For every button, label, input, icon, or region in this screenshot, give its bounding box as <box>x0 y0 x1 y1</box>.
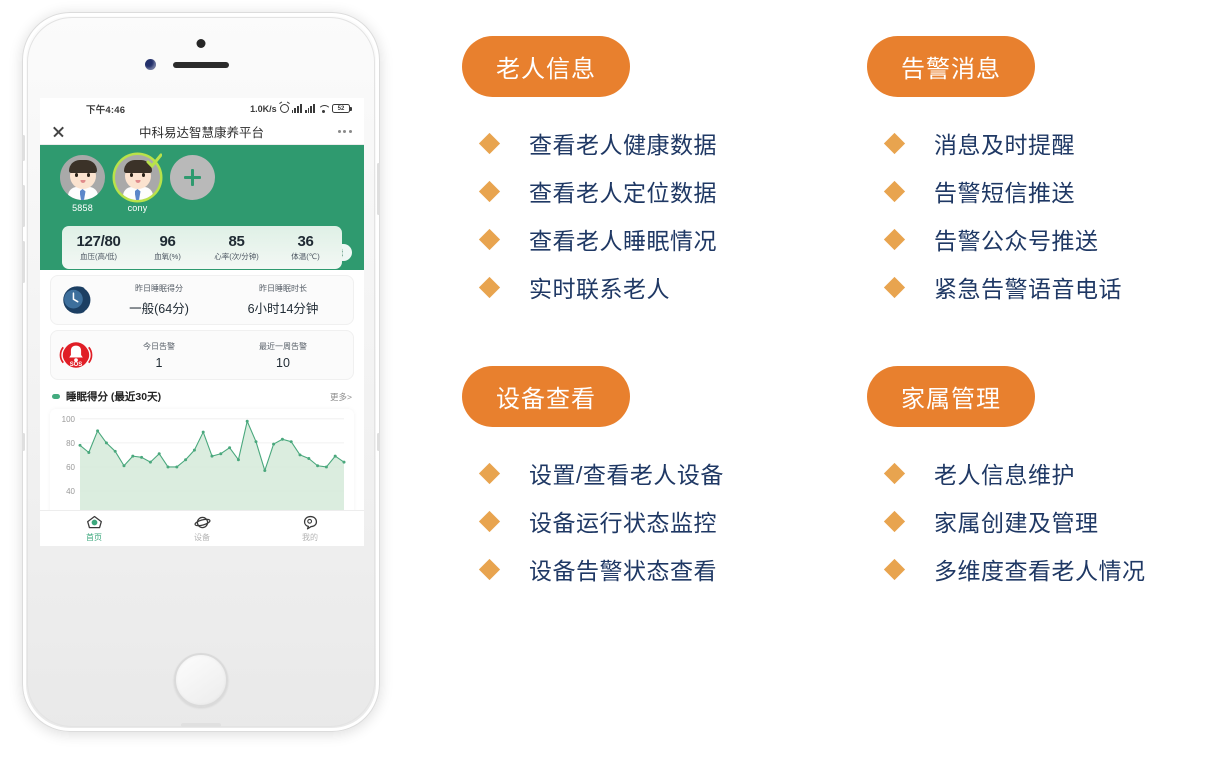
diamond-bullet-icon <box>479 276 500 297</box>
diamond-bullet-icon <box>884 558 905 579</box>
tab-device[interactable]: 设备 <box>148 511 256 546</box>
home-icon <box>86 514 103 531</box>
battery-icon: 52 <box>332 104 350 114</box>
diamond-bullet-icon <box>884 180 905 201</box>
chart-legend-dot <box>52 394 60 399</box>
phone-antenna-line-right <box>377 433 380 451</box>
network-speed-label: 1.0K/s <box>250 104 277 114</box>
phone-mute-switch[interactable] <box>22 135 25 161</box>
phone-bottom-slot <box>181 723 221 727</box>
diamond-bullet-icon <box>479 558 500 579</box>
feature-pill[interactable]: 老人信息 <box>462 36 630 97</box>
phone-volume-up-button[interactable] <box>22 185 25 227</box>
diamond-bullet-icon <box>479 132 500 153</box>
profile-avatar-list: 5858 cony <box>52 155 352 213</box>
diamond-bullet-icon <box>884 276 905 297</box>
feature-label: 查看老人健康数据 <box>529 126 717 160</box>
phone-volume-down-button[interactable] <box>22 241 25 283</box>
sleep-duration-value: 6小时14分钟 <box>221 298 345 317</box>
phone-power-button[interactable] <box>377 163 380 215</box>
list-item[interactable]: 紧急告警语音电话 <box>867 263 1215 311</box>
signal-icon-1 <box>292 104 302 113</box>
add-profile-button[interactable] <box>170 155 215 200</box>
feature-label: 设置/查看老人设备 <box>529 456 724 490</box>
feature-label: 查看老人定位数据 <box>529 174 717 208</box>
list-item[interactable]: 查看老人定位数据 <box>462 167 852 215</box>
vital-heart-rate: 85 心率(次/分钟) <box>202 233 271 262</box>
more-icon[interactable] <box>338 130 352 133</box>
feature-label: 多维度查看老人情况 <box>934 552 1146 586</box>
vital-value: 96 <box>133 233 202 250</box>
tab-label: 我的 <box>302 532 318 543</box>
device-icon <box>194 514 211 531</box>
status-bar: 下午4:46 1.0K/s 52 <box>40 98 364 119</box>
moon-clock-icon <box>59 283 93 317</box>
alarm-week-value: 10 <box>221 356 345 370</box>
vital-label: 心率(次/分钟) <box>202 251 271 262</box>
feature-group-alarm-message: 告警消息 消息及时提醒 告警短信推送 告警公众号推送 紧急告警语音电话 <box>867 36 1215 311</box>
vital-value: 36 <box>271 233 340 250</box>
list-item[interactable]: 告警短信推送 <box>867 167 1215 215</box>
alarm-week-col: 最近一周告警 10 <box>221 341 345 370</box>
list-item[interactable]: 消息及时提醒 <box>867 119 1215 167</box>
feature-pill[interactable]: 家属管理 <box>867 366 1035 427</box>
feature-pill[interactable]: 设备查看 <box>462 366 630 427</box>
close-icon[interactable] <box>52 125 65 138</box>
vital-label: 体温(℃) <box>271 251 340 262</box>
chart-title: 睡眠得分 (最近30天) <box>66 389 161 404</box>
tab-profile[interactable]: 我的 <box>256 511 364 546</box>
status-time: 下午4:46 <box>86 102 125 116</box>
list-item[interactable]: 多维度查看老人情况 <box>867 545 1215 593</box>
feature-group-elder-info: 老人信息 查看老人健康数据 查看老人定位数据 查看老人睡眠情况 实时联系老人 <box>462 36 852 311</box>
sleep-score-chart[interactable]: 10080604020 <box>50 409 354 519</box>
vital-label: 血压(高/低) <box>64 251 133 262</box>
sleep-score-value: 一般(64分) <box>97 298 221 317</box>
plus-icon <box>184 169 201 186</box>
app-navbar: 中科易达智慧康养平台 <box>40 119 364 145</box>
features-panel: 老人信息 查看老人健康数据 查看老人定位数据 查看老人睡眠情况 实时联系老人 <box>462 0 1215 775</box>
sleep-card-columns: 昨日睡眠得分 一般(64分) 昨日睡眠时长 6小时14分钟 <box>97 283 345 317</box>
profile-avatar-cony[interactable]: cony <box>115 155 160 213</box>
phone-screen: 下午4:46 1.0K/s 52 中科易达智慧康养平台 <box>40 98 364 546</box>
vital-blood-oxygen: 96 血氧(%) <box>133 233 202 262</box>
profile-avatar-5858[interactable]: 5858 <box>60 155 105 213</box>
front-camera-icon <box>197 39 206 48</box>
vital-value: 85 <box>202 233 271 250</box>
feature-label: 紧急告警语音电话 <box>934 270 1122 304</box>
tab-label: 设备 <box>194 532 210 543</box>
diamond-bullet-icon <box>884 462 905 483</box>
list-item[interactable]: 设备告警状态查看 <box>462 545 852 593</box>
profile-icon <box>302 514 319 531</box>
feature-label: 家属创建及管理 <box>934 504 1099 538</box>
alarm-today-label: 今日告警 <box>97 341 221 352</box>
diamond-bullet-icon <box>884 510 905 531</box>
sleep-duration-label: 昨日睡眠时长 <box>221 283 345 294</box>
diamond-bullet-icon <box>479 180 500 201</box>
alarm-today-col: 今日告警 1 <box>97 341 221 370</box>
chart-canvas: 10080604020 <box>50 409 354 519</box>
list-item[interactable]: 设置/查看老人设备 <box>462 449 852 497</box>
avatar-label: 5858 <box>60 203 105 213</box>
feature-label: 设备告警状态查看 <box>529 552 717 586</box>
status-icons: 1.0K/s 52 <box>250 104 350 114</box>
check-icon <box>146 153 162 169</box>
sos-bell-icon: SOS <box>59 338 93 372</box>
diamond-bullet-icon <box>479 462 500 483</box>
list-item[interactable]: 查看老人睡眠情况 <box>462 215 852 263</box>
svg-text:100: 100 <box>62 415 76 424</box>
feature-list: 消息及时提醒 告警短信推送 告警公众号推送 紧急告警语音电话 <box>867 119 1215 311</box>
phone-mockup: 下午4:46 1.0K/s 52 中科易达智慧康养平台 <box>22 12 380 732</box>
feature-label: 告警公众号推送 <box>934 222 1099 256</box>
chart-header: 睡眠得分 (最近30天) 更多> <box>52 389 352 404</box>
tab-home[interactable]: 首页 <box>40 511 148 546</box>
list-item[interactable]: 设备运行状态监控 <box>462 497 852 545</box>
feature-label: 设备运行状态监控 <box>529 504 717 538</box>
signal-icon-2 <box>305 104 315 113</box>
proximity-sensor-icon <box>145 59 156 70</box>
feature-list: 老人信息维护 家属创建及管理 多维度查看老人情况 <box>867 449 1215 593</box>
bottom-tabbar: 首页 设备 我的 <box>40 510 364 546</box>
feature-label: 实时联系老人 <box>529 270 670 304</box>
sleep-duration-col: 昨日睡眠时长 6小时14分钟 <box>221 283 345 317</box>
feature-list: 查看老人健康数据 查看老人定位数据 查看老人睡眠情况 实时联系老人 <box>462 119 852 311</box>
feature-group-family-management: 家属管理 老人信息维护 家属创建及管理 多维度查看老人情况 <box>867 366 1215 593</box>
svg-text:SOS: SOS <box>70 362 83 368</box>
earpiece-speaker <box>173 62 229 68</box>
alarm-week-label: 最近一周告警 <box>221 341 345 352</box>
svg-text:80: 80 <box>66 439 75 448</box>
vital-blood-pressure: 127/80 血压(高/低) <box>64 233 133 262</box>
alarm-today-value: 1 <box>97 356 221 370</box>
list-item[interactable]: 家属创建及管理 <box>867 497 1215 545</box>
list-item[interactable]: 查看老人健康数据 <box>462 119 852 167</box>
vital-label: 血氧(%) <box>133 251 202 262</box>
feature-pill[interactable]: 告警消息 <box>867 36 1035 97</box>
sleep-score-col: 昨日睡眠得分 一般(64分) <box>97 283 221 317</box>
wifi-icon <box>318 104 329 113</box>
page-root: 下午4:46 1.0K/s 52 中科易达智慧康养平台 <box>0 0 1215 775</box>
feature-label: 老人信息维护 <box>934 456 1075 490</box>
diamond-bullet-icon <box>479 510 500 531</box>
sleep-summary-card[interactable]: 昨日睡眠得分 一般(64分) 昨日睡眠时长 6小时14分钟 <box>50 275 354 325</box>
diamond-bullet-icon <box>884 228 905 249</box>
alarm-card-columns: 今日告警 1 最近一周告警 10 <box>97 341 345 370</box>
diamond-bullet-icon <box>884 132 905 153</box>
app-title: 中科易达智慧康养平台 <box>139 122 264 141</box>
avatar <box>60 155 105 200</box>
tab-label: 首页 <box>86 532 102 543</box>
profile-header: 5858 cony <box>40 145 364 270</box>
avatar-label: cony <box>115 203 160 213</box>
list-item[interactable]: 告警公众号推送 <box>867 215 1215 263</box>
vitals-strip: 127/80 血压(高/低) 96 血氧(%) 85 心率(次/分钟) 36 体… <box>62 226 342 269</box>
home-button[interactable] <box>174 653 228 707</box>
list-item[interactable]: 老人信息维护 <box>867 449 1215 497</box>
vital-temperature: 36 体温(℃) <box>271 233 340 262</box>
phone-antenna-line-left <box>22 433 25 451</box>
feature-label: 告警短信推送 <box>934 174 1075 208</box>
feature-label: 查看老人睡眠情况 <box>529 222 717 256</box>
svg-text:60: 60 <box>66 463 75 472</box>
feature-group-device-view: 设备查看 设置/查看老人设备 设备运行状态监控 设备告警状态查看 <box>462 366 852 593</box>
chart-more-link[interactable]: 更多> <box>330 391 352 403</box>
diamond-bullet-icon <box>479 228 500 249</box>
feature-list: 设置/查看老人设备 设备运行状态监控 设备告警状态查看 <box>462 449 852 593</box>
feature-label: 消息及时提醒 <box>934 126 1075 160</box>
svg-text:40: 40 <box>66 487 75 496</box>
alarm-summary-card[interactable]: SOS 今日告警 1 最近一周告警 10 <box>50 330 354 380</box>
alarm-icon <box>280 104 289 113</box>
list-item[interactable]: 实时联系老人 <box>462 263 852 311</box>
sleep-score-label: 昨日睡眠得分 <box>97 283 221 294</box>
vital-value: 127/80 <box>64 233 133 250</box>
